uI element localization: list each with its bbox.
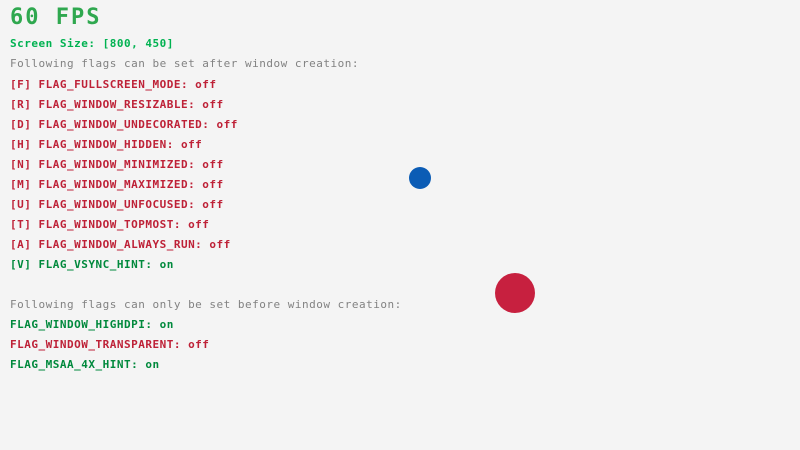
flag-row-flag-window-always-run[interactable]: [A] FLAG_WINDOW_ALWAYS_RUN: off: [10, 238, 231, 252]
red-ball-shape: [495, 273, 535, 313]
flag-row-flag-msaa-4x-hint[interactable]: FLAG_MSAA_4X_HINT: on: [10, 358, 160, 372]
fps-counter: 60 FPS: [10, 5, 101, 31]
flag-row-flag-window-unfocused[interactable]: [U] FLAG_WINDOW_UNFOCUSED: off: [10, 198, 224, 212]
blue-ball-shape: [409, 167, 431, 189]
flag-row-flag-window-highdpi[interactable]: FLAG_WINDOW_HIGHDPI: on: [10, 318, 174, 332]
flag-row-flag-window-minimized[interactable]: [N] FLAG_WINDOW_MINIMIZED: off: [10, 158, 224, 172]
flag-row-flag-window-topmost[interactable]: [T] FLAG_WINDOW_TOPMOST: off: [10, 218, 209, 232]
section-label-after-creation: Following flags can be set after window …: [10, 57, 359, 71]
flag-row-flag-vsync-hint[interactable]: [V] FLAG_VSYNC_HINT: on: [10, 258, 174, 272]
flag-row-flag-window-transparent[interactable]: FLAG_WINDOW_TRANSPARENT: off: [10, 338, 209, 352]
flag-row-flag-fullscreen-mode[interactable]: [F] FLAG_FULLSCREEN_MODE: off: [10, 78, 217, 92]
raylib-window-canvas: 60 FPS Screen Size: [800, 450] Following…: [0, 0, 800, 450]
flag-row-flag-window-hidden[interactable]: [H] FLAG_WINDOW_HIDDEN: off: [10, 138, 202, 152]
flag-row-flag-window-undecorated[interactable]: [D] FLAG_WINDOW_UNDECORATED: off: [10, 118, 238, 132]
flag-row-flag-window-resizable[interactable]: [R] FLAG_WINDOW_RESIZABLE: off: [10, 98, 224, 112]
flag-row-flag-window-maximized[interactable]: [M] FLAG_WINDOW_MAXIMIZED: off: [10, 178, 224, 192]
section-label-before-creation: Following flags can only be set before w…: [10, 298, 402, 312]
screen-size-label: Screen Size: [800, 450]: [10, 37, 174, 51]
